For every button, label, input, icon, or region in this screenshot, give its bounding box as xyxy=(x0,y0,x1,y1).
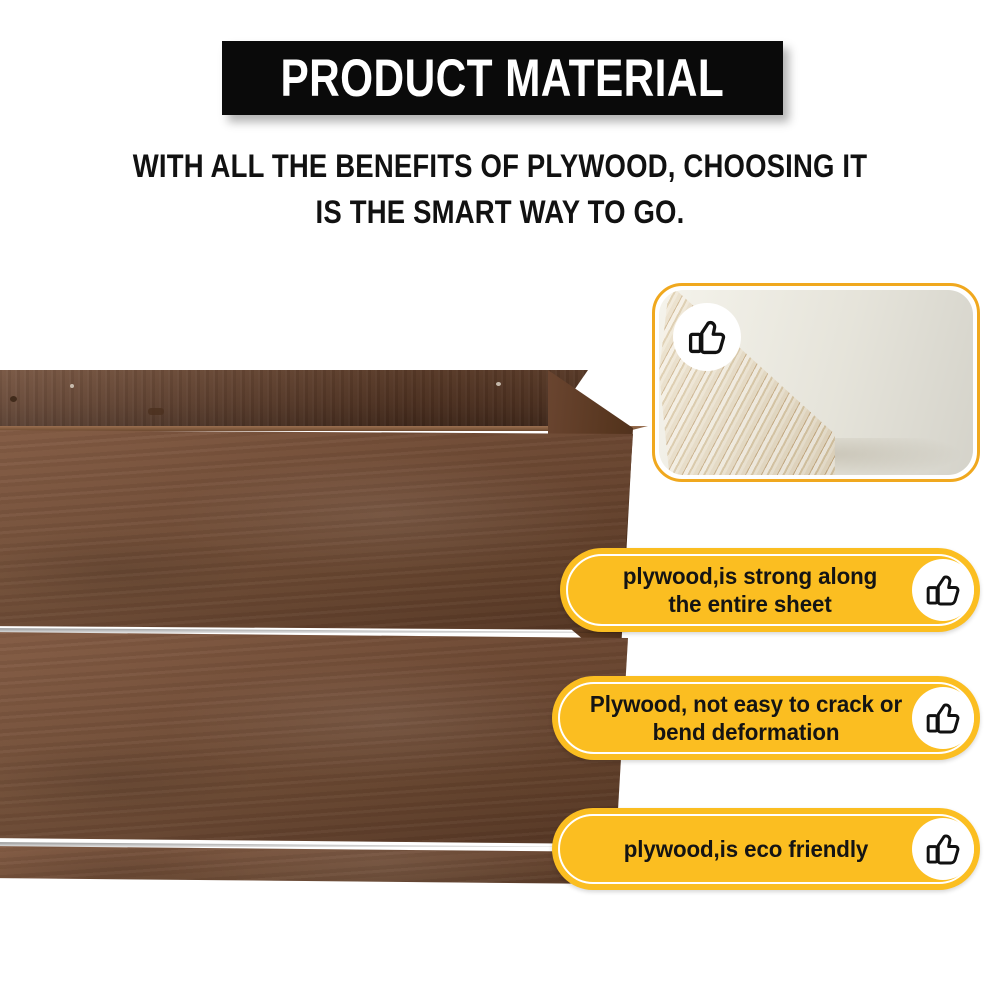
feature-pill[interactable]: plywood,is eco friendly xyxy=(552,808,980,890)
subtitle-line-1: WITH ALL THE BENEFITS OF PLYWOOD, CHOOSI… xyxy=(130,143,870,189)
subtitle: WITH ALL THE BENEFITS OF PLYWOOD, CHOOSI… xyxy=(70,143,930,235)
plywood-photo-panel xyxy=(652,283,980,482)
cabinet-hardware-dot xyxy=(70,384,74,388)
feature-pill[interactable]: plywood,is strong along the entire sheet xyxy=(560,548,980,632)
cabinet-hardware-dot xyxy=(148,408,164,415)
cabinet-hardware-dot xyxy=(496,382,501,386)
feature-pill-line-1: plywood,is eco friendly xyxy=(583,835,909,863)
plywood-right-face xyxy=(829,290,973,475)
thumbs-up-icon xyxy=(912,687,974,749)
cabinet-drawer-front xyxy=(0,632,628,844)
page-title-banner: PRODUCT MATERIAL xyxy=(222,41,783,115)
cabinet-drawer-front xyxy=(0,846,624,884)
page-title: PRODUCT MATERIAL xyxy=(281,52,725,105)
cabinet-drawer-front xyxy=(0,430,633,630)
cabinet-interior-sheen xyxy=(0,370,588,428)
thumbs-up-icon xyxy=(912,559,974,621)
cabinet-hardware-dot xyxy=(10,396,17,402)
feature-pill-line-2: the entire sheet xyxy=(591,590,909,618)
plywood-photo xyxy=(659,290,973,475)
product-material-infographic: PRODUCT MATERIAL WITH ALL THE BENEFITS O… xyxy=(0,0,1000,1000)
thumbs-up-icon xyxy=(912,818,974,880)
thumbs-up-icon xyxy=(673,303,741,371)
cabinet-interior-panel xyxy=(0,370,588,428)
feature-pill-line-1: plywood,is strong along xyxy=(591,562,909,590)
feature-pill[interactable]: Plywood, not easy to crack or bend defor… xyxy=(552,676,980,760)
subtitle-line-2: IS THE SMART WAY TO GO. xyxy=(130,189,870,235)
feature-pill-line-2: bend deformation xyxy=(583,718,909,746)
feature-pill-line-1: Plywood, not easy to crack or xyxy=(583,690,909,718)
cabinet-product-photo xyxy=(0,360,648,885)
